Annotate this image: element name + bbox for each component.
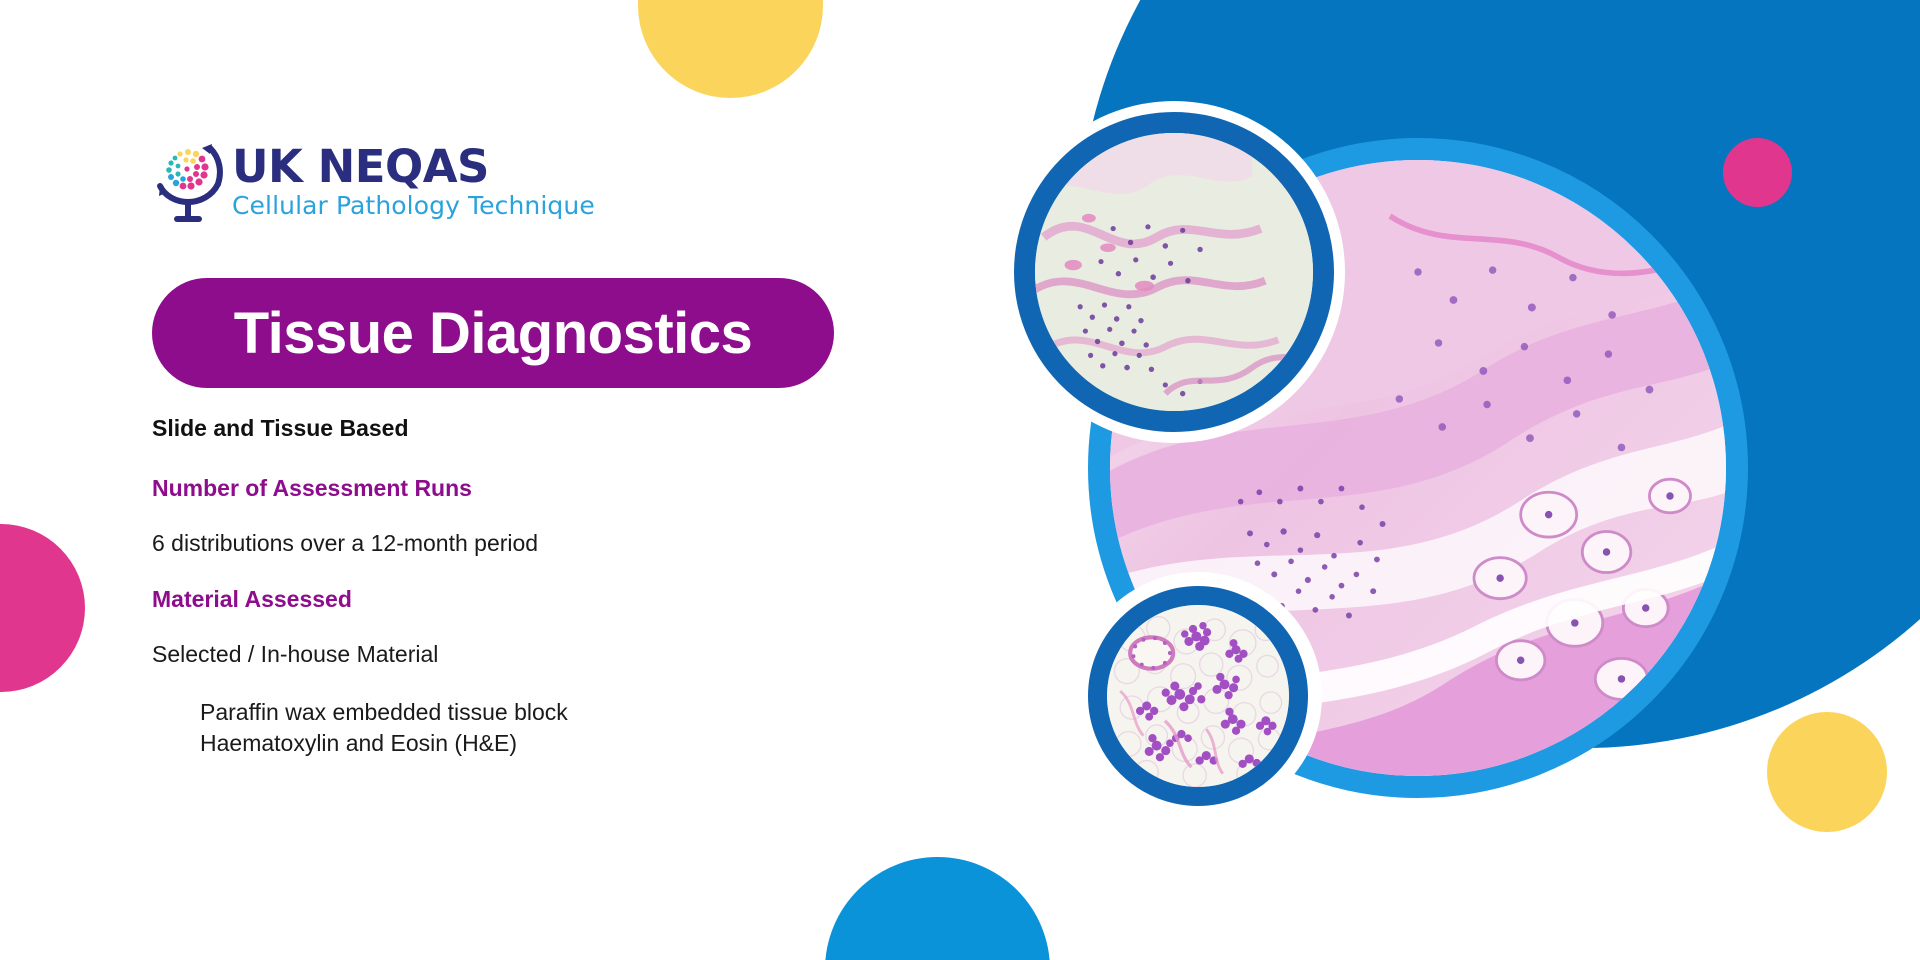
material-assessed-heading: Material Assessed	[152, 586, 912, 614]
details-block: Slide and Tissue Based Number of Assessm…	[152, 415, 912, 759]
scheme-subtitle: Slide and Tissue Based	[152, 415, 912, 443]
uk-neqas-logo: UK NEQAS Cellular Pathology Technique	[152, 138, 595, 226]
page-title-banner: Tissue Diagnostics	[152, 278, 834, 388]
poster-canvas: UK NEQAS Cellular Pathology Technique Ti…	[0, 0, 1920, 960]
assessment-runs-heading: Number of Assessment Runs	[152, 475, 912, 503]
bottom-inset-histology-image	[1088, 586, 1308, 806]
material-item: Paraffin wax embedded tissue block	[200, 697, 912, 728]
pink-dot-top-right-decoration	[1723, 138, 1792, 207]
page-title: Tissue Diagnostics	[234, 300, 753, 367]
content-column: UK NEQAS Cellular Pathology Technique Ti…	[0, 0, 1000, 960]
material-assessed-value: Selected / In-house Material	[152, 641, 912, 669]
brand-name: UK NEQAS	[232, 144, 595, 189]
material-item: Haematoxylin and Eosin (H&E)	[200, 728, 912, 759]
globe-microscope-icon	[152, 138, 224, 226]
assessment-runs-value: 6 distributions over a 12-month period	[152, 530, 912, 558]
brand-tagline: Cellular Pathology Technique	[232, 193, 595, 218]
material-items-list: Paraffin wax embedded tissue block Haema…	[200, 697, 912, 759]
yellow-circle-bottom-right-decoration	[1767, 712, 1887, 832]
top-inset-histology-image	[1014, 112, 1334, 432]
